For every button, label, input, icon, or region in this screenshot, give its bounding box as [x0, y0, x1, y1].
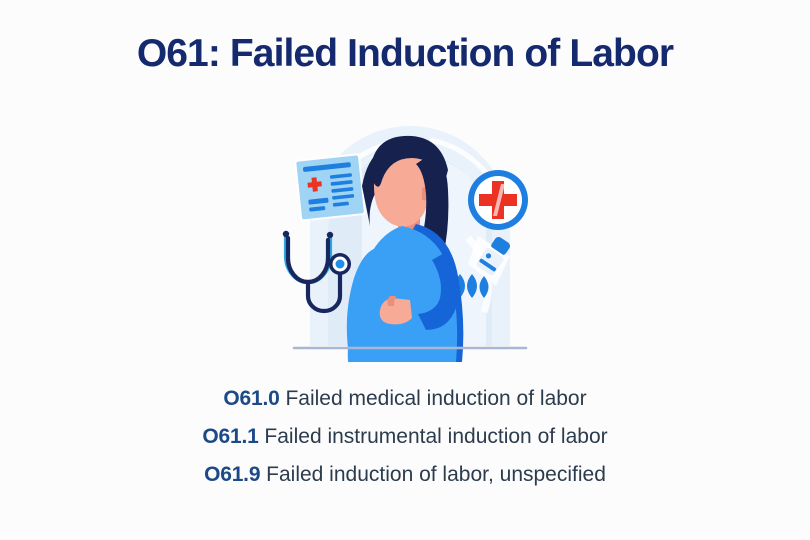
code-id: O61.0	[223, 387, 279, 410]
title-block: O61: Failed Induction of Labor	[0, 32, 810, 77]
code-id: O61.9	[204, 463, 260, 486]
code-id: O61.1	[202, 425, 258, 448]
list-item: O61.0 Failed medical induction of labor	[0, 380, 810, 418]
code-list: O61.0 Failed medical induction of labor …	[0, 380, 810, 494]
slide-canvas: O61: Failed Induction of Labor	[0, 0, 810, 540]
list-item: O61.1 Failed instrumental induction of l…	[0, 418, 810, 456]
page-title: O61: Failed Induction of Labor	[0, 32, 810, 77]
stethoscope-chestpiece	[329, 253, 351, 275]
code-description: Failed instrumental induction of labor	[264, 425, 607, 448]
red-cross-badge-icon	[468, 170, 528, 230]
code-description: Failed induction of labor, unspecified	[266, 463, 606, 486]
pregnant-woman-medical-illustration	[270, 116, 550, 366]
medical-chart-clipboard	[294, 153, 366, 222]
list-item: O61.9 Failed induction of labor, unspeci…	[0, 456, 810, 494]
code-description: Failed medical induction of labor	[285, 387, 586, 410]
